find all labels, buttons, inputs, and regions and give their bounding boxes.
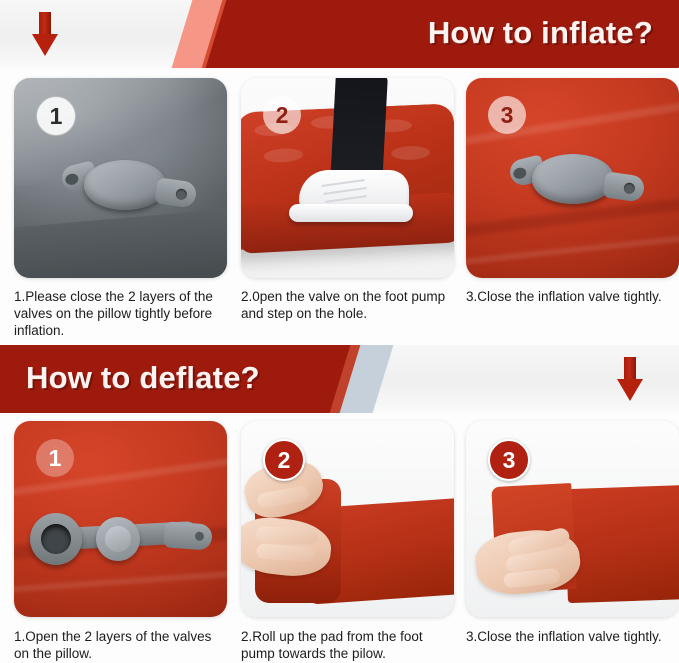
deflate-banner: How to deflate? <box>0 345 679 413</box>
red-pad-right-half <box>564 485 679 603</box>
arrow-shaft <box>624 357 636 381</box>
deflate-panel-row: 1 2 3 <box>0 421 679 619</box>
valve-cap-closed-icon <box>66 156 184 218</box>
inflate-step-2-caption: 2.0pen the valve on the foot pump and st… <box>241 288 456 322</box>
inflate-step-1-image: 1 <box>14 78 227 278</box>
page-title-deflate: How to deflate? <box>26 353 260 403</box>
inflate-step-2-image: 2 <box>241 78 454 278</box>
arrow-down-icon <box>32 12 58 56</box>
deflate-step-1-caption: 1.Open the 2 layers of the valves on the… <box>14 628 224 662</box>
deflate-step-2-image: 2 <box>241 421 454 617</box>
deflate-step-3-image: 3 <box>466 421 679 617</box>
inflate-step-3-image: 3 <box>466 78 679 278</box>
valve-opening <box>30 513 82 565</box>
deflate-step-2-caption: 2.Roll up the pad from the foot pump tow… <box>241 628 456 662</box>
deflate-title-wrap: How to deflate? <box>26 353 260 403</box>
mat-edge <box>14 208 227 278</box>
inflate-step-1-caption: 1.Please close the 2 layers of the valve… <box>14 288 224 339</box>
step-badge: 1 <box>36 439 74 477</box>
sneaker-sole <box>289 204 413 222</box>
step-badge: 2 <box>263 96 301 134</box>
infographic-sheet: How to inflate? 1 <box>0 0 679 663</box>
inflate-banner: How to inflate? <box>0 0 679 68</box>
valve-lid <box>84 160 166 210</box>
valve-cap-closed-icon <box>514 150 632 212</box>
arrow-head <box>617 379 643 401</box>
valve-lid <box>532 154 614 204</box>
arrow-shaft <box>39 12 51 36</box>
valve-open-icon <box>30 513 206 563</box>
arrow-down-icon <box>617 357 643 401</box>
deflate-step-3-caption: 3.Close the inflation valve tightly. <box>466 628 679 645</box>
valve-second-cap <box>96 517 140 561</box>
page-title-inflate: How to inflate? <box>428 8 653 58</box>
valve-pull-tab <box>163 521 213 550</box>
arrow-head <box>32 34 58 56</box>
inflate-title-wrap: How to inflate? <box>428 8 653 58</box>
inflate-panel-row: 1 <box>0 78 679 278</box>
step-badge: 3 <box>488 439 530 481</box>
step-badge: 2 <box>263 439 305 481</box>
inflate-step-3-caption: 3.Close the inflation valve tightly. <box>466 288 679 305</box>
step-badge: 3 <box>488 96 526 134</box>
step-badge: 1 <box>36 96 76 136</box>
white-sneaker <box>285 170 417 228</box>
deflate-step-1-image: 1 <box>14 421 227 617</box>
